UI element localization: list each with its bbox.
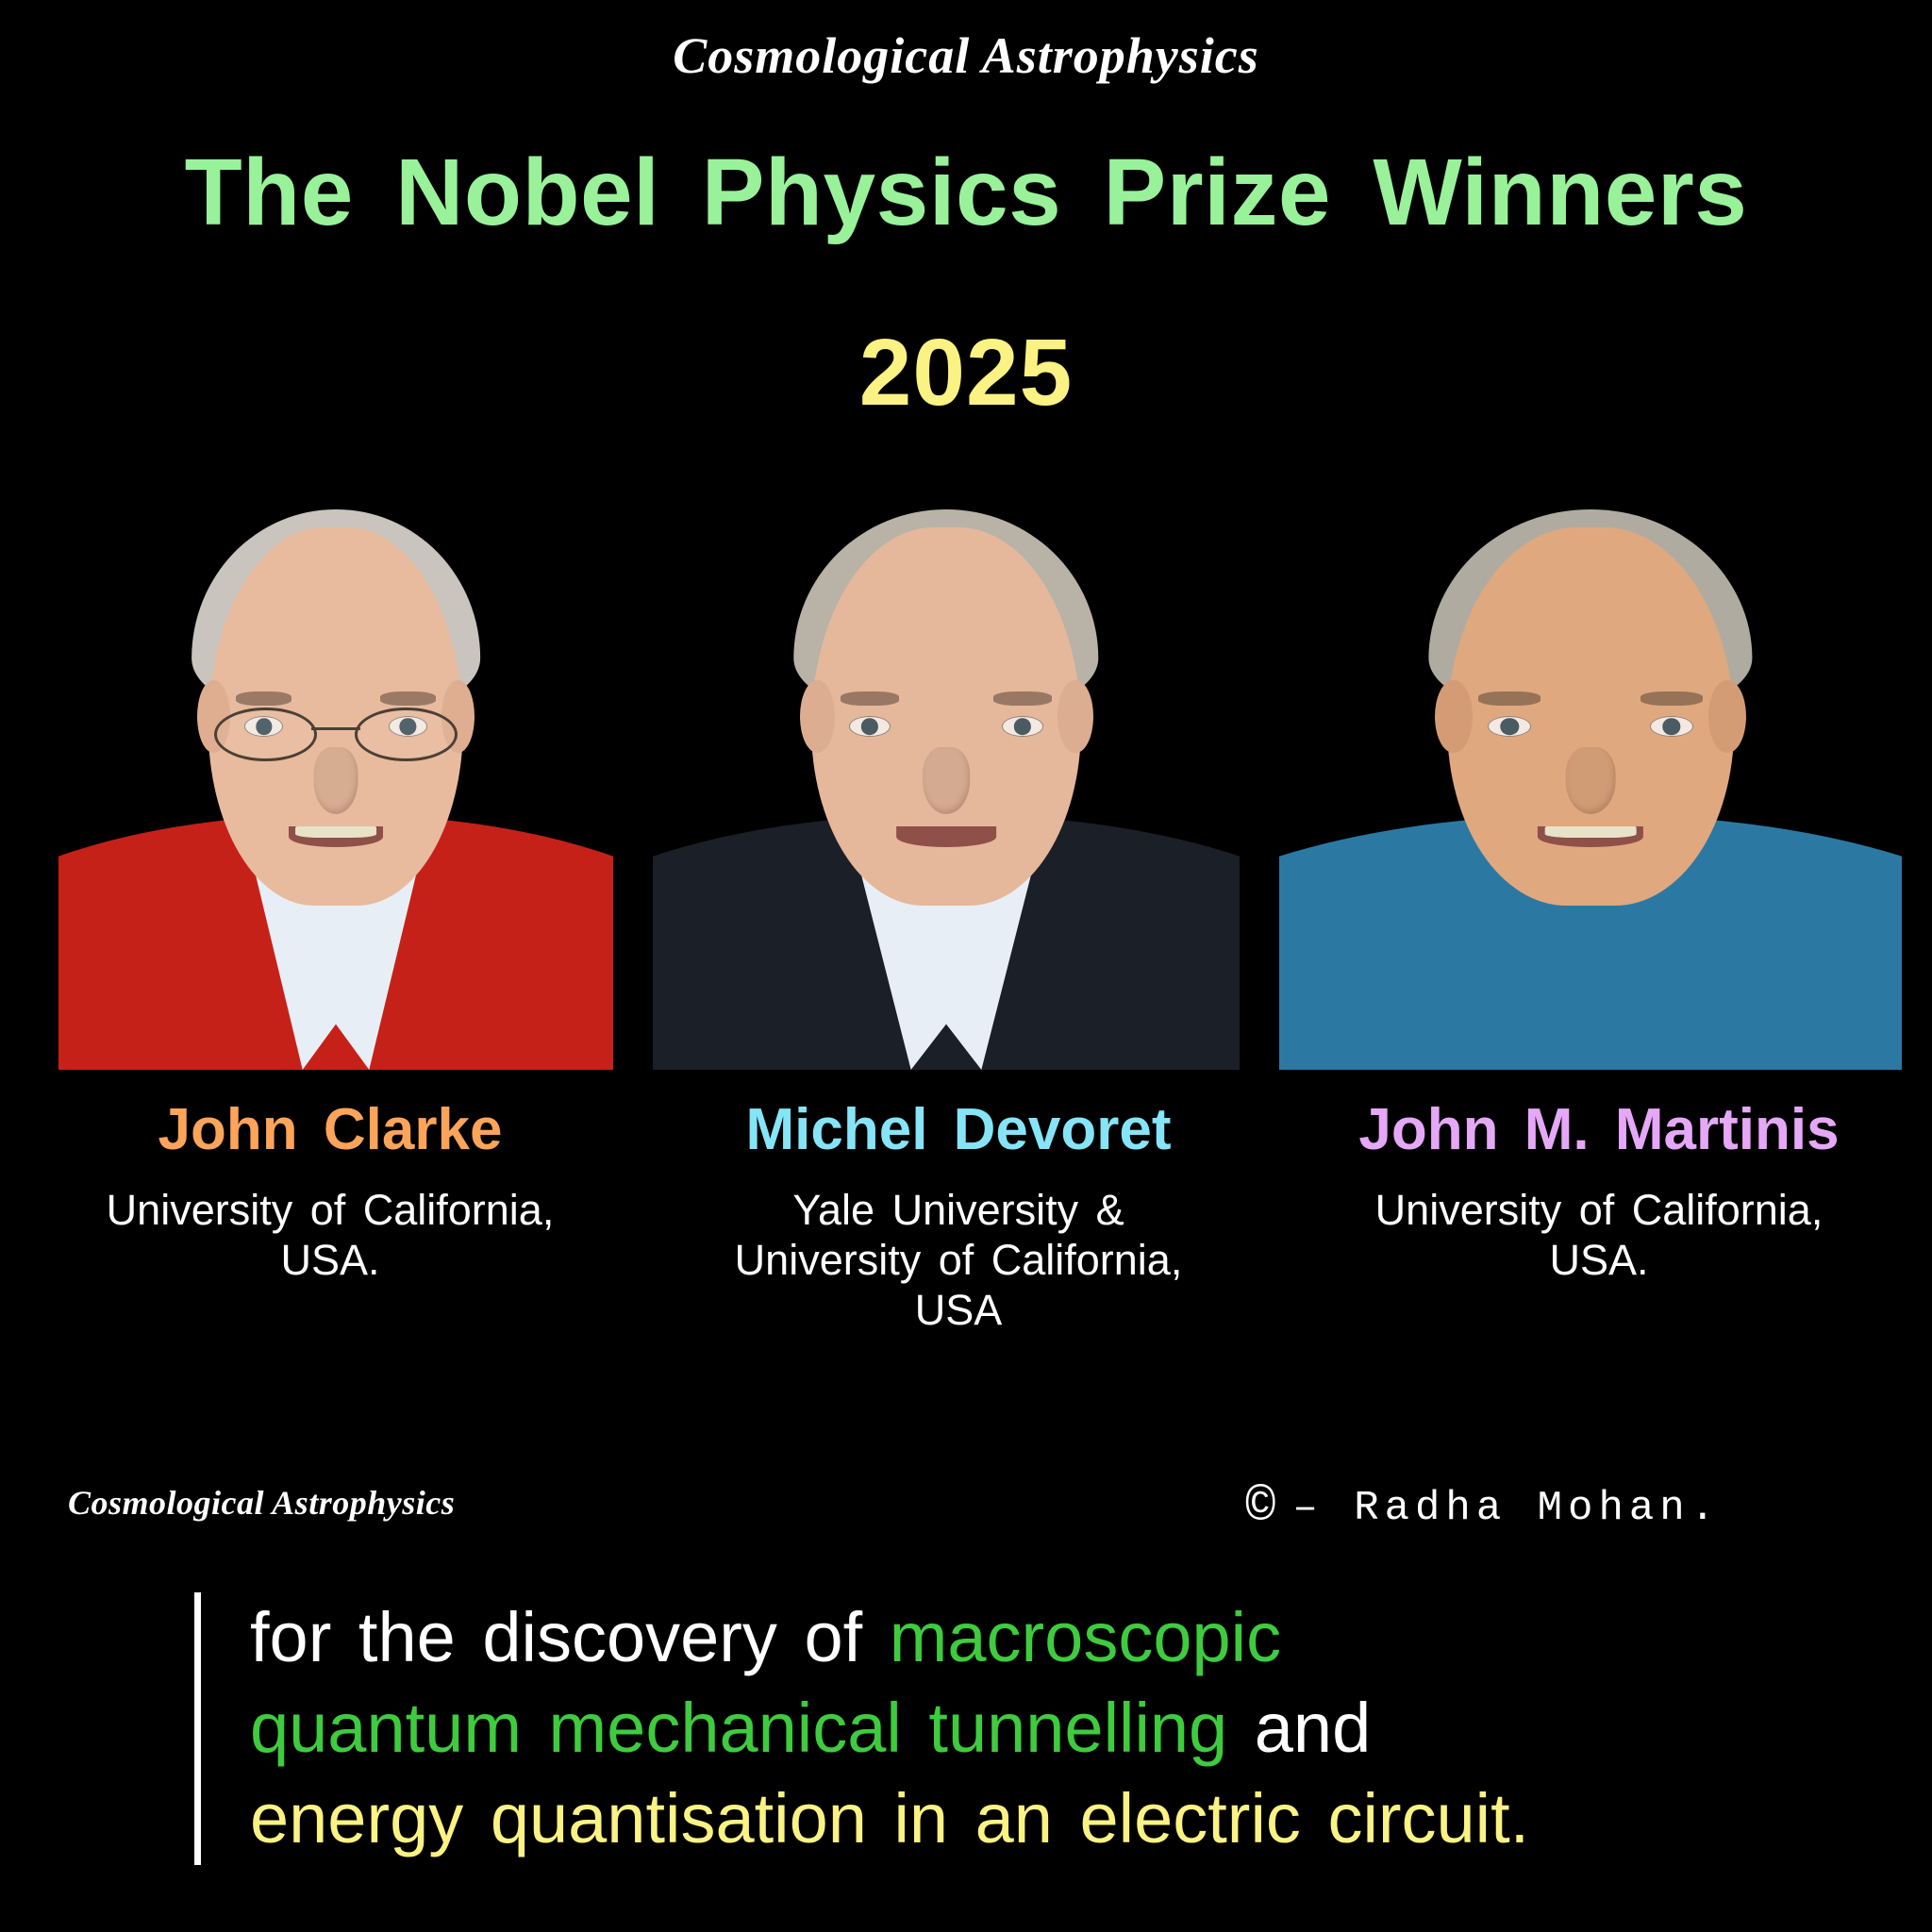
laureate-credit-0: John Clarke University of California, US… bbox=[9, 1099, 651, 1285]
ear-left bbox=[800, 680, 835, 754]
affiliation-line: University of California, bbox=[9, 1185, 651, 1235]
mouth-shape bbox=[896, 826, 996, 847]
portrait-row bbox=[0, 460, 1932, 1070]
nose-shape bbox=[923, 747, 970, 814]
laureate-affiliation-2: University of California, USA. bbox=[1274, 1185, 1924, 1285]
poster-root: Cosmological Astrophysics The Nobel Phys… bbox=[0, 0, 1932, 1932]
brow-left bbox=[841, 691, 899, 705]
portrait-john-m-martinis bbox=[1279, 460, 1902, 1070]
laureate-affiliation-1: Yale University & University of Californ… bbox=[647, 1185, 1270, 1335]
brow-right bbox=[993, 691, 1052, 705]
brow-right bbox=[1641, 691, 1703, 705]
mouth-shape bbox=[1538, 826, 1643, 847]
laureate-name-1: Michel Devoret bbox=[647, 1099, 1270, 1160]
nose-shape bbox=[313, 747, 358, 814]
ear-left bbox=[1435, 680, 1473, 754]
laureate-credit-1: Michel Devoret Yale University & Univers… bbox=[647, 1099, 1270, 1335]
citation-segment: and bbox=[1227, 1689, 1371, 1767]
laureate-affiliation-0: University of California, USA. bbox=[9, 1185, 651, 1285]
brand-footer: Cosmological Astrophysics bbox=[68, 1483, 455, 1523]
ear-right bbox=[1058, 680, 1092, 754]
nose-shape bbox=[1566, 747, 1616, 814]
affiliation-line: University of California, bbox=[647, 1235, 1270, 1285]
brow-left bbox=[1478, 691, 1541, 705]
citation-line-2: energy quantisation in an electric circu… bbox=[250, 1774, 1883, 1864]
portrait-michel-devoret bbox=[653, 460, 1240, 1070]
affiliation-line: USA. bbox=[9, 1235, 651, 1285]
affiliation-line: University of California, bbox=[1274, 1185, 1924, 1235]
ear-right bbox=[1708, 680, 1746, 754]
copyright-credit: © – Radha Mohan. bbox=[1245, 1483, 1721, 1534]
credit-author: – Radha Mohan. bbox=[1292, 1485, 1721, 1532]
citation-segment: macroscopic bbox=[890, 1598, 1281, 1676]
eye-right bbox=[1002, 716, 1043, 737]
citation-block: for the discovery of macroscopic quantum… bbox=[194, 1592, 1883, 1865]
portrait-john-clarke bbox=[58, 460, 613, 1070]
citation-line-0: for the discovery of macroscopic bbox=[250, 1592, 1883, 1683]
affiliation-line: USA bbox=[647, 1285, 1270, 1335]
affiliation-line: Yale University & bbox=[647, 1185, 1270, 1235]
laureate-credit-2: John M. Martinis University of Californi… bbox=[1274, 1099, 1924, 1285]
citation-segment: for the discovery of bbox=[250, 1598, 890, 1676]
head-shape bbox=[811, 527, 1081, 906]
mouth-shape bbox=[289, 826, 383, 847]
head-shape bbox=[1447, 527, 1734, 906]
citation-line-1: quantum mechanical tunnelling and bbox=[250, 1683, 1883, 1774]
laureate-name-2: John M. Martinis bbox=[1274, 1099, 1924, 1160]
laureate-name-0: John Clarke bbox=[9, 1099, 651, 1160]
copyright-icon: © bbox=[1245, 1483, 1275, 1534]
citation-segment: energy quantisation in an electric circu… bbox=[250, 1779, 1529, 1857]
brow-left bbox=[236, 691, 291, 705]
affiliation-line: USA. bbox=[1274, 1235, 1924, 1285]
citation-segment: quantum mechanical tunnelling bbox=[250, 1689, 1227, 1767]
brand-header: Cosmological Astrophysics bbox=[0, 26, 1932, 85]
brow-right bbox=[380, 691, 436, 705]
page-title: The Nobel Physics Prize Winners bbox=[0, 142, 1932, 243]
year-title: 2025 bbox=[0, 319, 1932, 427]
